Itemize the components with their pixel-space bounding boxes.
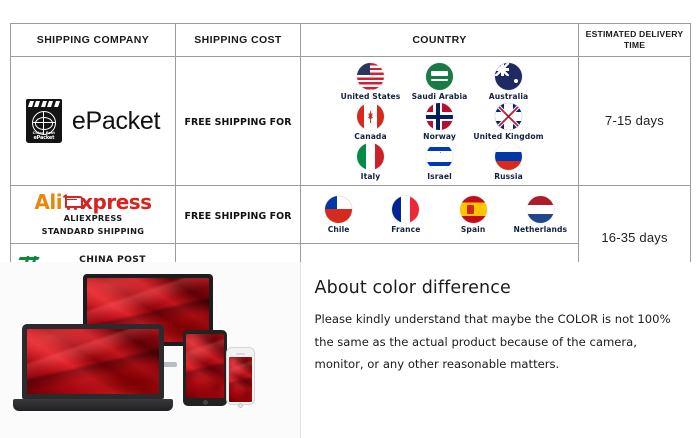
delivery-time-standard: 16-35 days	[601, 230, 667, 245]
country-label: Israel	[427, 172, 452, 181]
cell-cost-epacket: FREE SHIPPING FOR	[176, 57, 301, 186]
devices-image	[0, 262, 301, 438]
flag-il-icon	[426, 143, 453, 170]
cell-cost-aliexpress: FREE SHIPPING FOR	[176, 186, 301, 244]
country-item-italy: Italy	[336, 143, 405, 181]
flag-it-icon	[357, 143, 384, 170]
aliexpress-logo-ali: Ali	[34, 192, 62, 212]
header-shipping-cost: SHIPPING COST	[176, 24, 301, 57]
country-label: Netherlands	[514, 225, 568, 234]
header-estimated-delivery-time: ESTIMATED DELIVERY TIME	[579, 24, 691, 57]
flag-ru-icon	[495, 143, 522, 170]
cell-company-aliexpress: Ali xpress ALIEXPRESS STANDARD SHIPPING	[11, 186, 176, 244]
smartphone-device	[227, 348, 254, 404]
country-item-spain: Spain	[440, 196, 507, 234]
cell-countries-epacket: United States Saudi Arabia Australia	[301, 57, 579, 186]
flag-uk-icon	[495, 103, 522, 130]
country-item-france: France	[372, 196, 439, 234]
about-text-pane: About color difference Please kindly und…	[301, 262, 700, 438]
country-label: France	[391, 225, 420, 234]
country-item-saudi-arabia: Saudi Arabia	[405, 63, 474, 101]
flag-es-icon	[460, 196, 487, 223]
flag-fr-icon	[392, 196, 419, 223]
laptop-device	[22, 324, 164, 411]
country-item-netherlands: Netherlands	[507, 196, 574, 234]
flag-grid-epacket: United States Saudi Arabia Australia	[301, 57, 578, 185]
wallpaper-phone	[229, 357, 252, 402]
aliexpress-logo-icon: Ali xpress	[34, 192, 151, 212]
aliexpress-logo-xpress: xpress	[80, 192, 151, 212]
shopping-cart-icon	[63, 194, 80, 210]
flag-cl-icon	[325, 196, 352, 223]
tablet-device	[183, 330, 227, 406]
country-item-israel: Israel	[405, 143, 474, 181]
flag-ca-icon	[357, 103, 384, 130]
country-item-norway: Norway	[405, 103, 474, 141]
flag-au-icon	[495, 63, 522, 90]
shipping-table: SHIPPING COMPANY SHIPPING COST COUNTRY E…	[10, 23, 691, 291]
free-shipping-label-epacket: FREE SHIPPING FOR	[184, 117, 291, 128]
table-row-epacket: China Post ePacket ePacket FREE SHIPPING…	[11, 57, 691, 186]
country-item-chile: Chile	[305, 196, 372, 234]
country-label: Italy	[361, 172, 381, 181]
country-item-australia: Australia	[474, 63, 543, 101]
delivery-time-epacket: 7-15 days	[605, 113, 664, 128]
aliexpress-sub-line2: STANDARD SHIPPING	[42, 226, 145, 238]
cell-countries-aliexpress: Chile France Spain Netherlands	[301, 186, 579, 244]
country-item-united-kingdom: United Kingdom	[474, 103, 543, 141]
country-label: Norway	[423, 132, 456, 141]
country-item-united-states: United States	[336, 63, 405, 101]
color-difference-section: About color difference Please kindly und…	[0, 262, 700, 438]
about-color-difference-paragraph: Please kindly understand that maybe the …	[315, 308, 686, 376]
epacket-badge-line2: ePacket	[33, 135, 54, 141]
country-label: Russia	[494, 172, 523, 181]
wallpaper-laptop	[27, 329, 159, 394]
header-row: SHIPPING COMPANY SHIPPING COST COUNTRY E…	[11, 24, 691, 57]
flag-no-icon	[426, 103, 453, 130]
epacket-name: ePacket	[72, 107, 160, 136]
header-shipping-company: SHIPPING COMPANY	[11, 24, 176, 57]
cell-delivery-epacket: 7-15 days	[579, 57, 691, 186]
country-item-canada: Canada	[336, 103, 405, 141]
country-label: Saudi Arabia	[412, 92, 468, 101]
table-header: SHIPPING COMPANY SHIPPING COST COUNTRY E…	[11, 24, 691, 57]
table-body: China Post ePacket ePacket FREE SHIPPING…	[11, 57, 691, 291]
cell-company-epacket: China Post ePacket ePacket	[11, 57, 176, 186]
free-shipping-label-aliexpress: FREE SHIPPING FOR	[184, 211, 291, 222]
country-label: Chile	[328, 225, 350, 234]
country-label: Australia	[489, 92, 529, 101]
country-label: United States	[341, 92, 401, 101]
shipping-information-table: SHIPPING COMPANY SHIPPING COST COUNTRY E…	[10, 23, 690, 291]
table-row-aliexpress: Ali xpress ALIEXPRESS STANDARD SHIPPING …	[11, 186, 691, 244]
country-label: Spain	[461, 225, 486, 234]
about-color-difference-title: About color difference	[315, 278, 686, 298]
flag-nl-icon	[527, 196, 554, 223]
wallpaper-tablet	[186, 334, 224, 398]
country-label: United Kingdom	[473, 132, 543, 141]
header-country: COUNTRY	[301, 24, 579, 57]
country-label: Canada	[354, 132, 386, 141]
epacket-logo-icon: China Post ePacket	[26, 99, 62, 143]
flag-sa-icon	[426, 63, 453, 90]
country-item-russia: Russia	[474, 143, 543, 181]
flag-grid-aliexpress: Chile France Spain Netherlands	[301, 188, 578, 242]
flag-us-icon	[357, 63, 384, 90]
aliexpress-sub-line1: ALIEXPRESS	[64, 213, 123, 225]
